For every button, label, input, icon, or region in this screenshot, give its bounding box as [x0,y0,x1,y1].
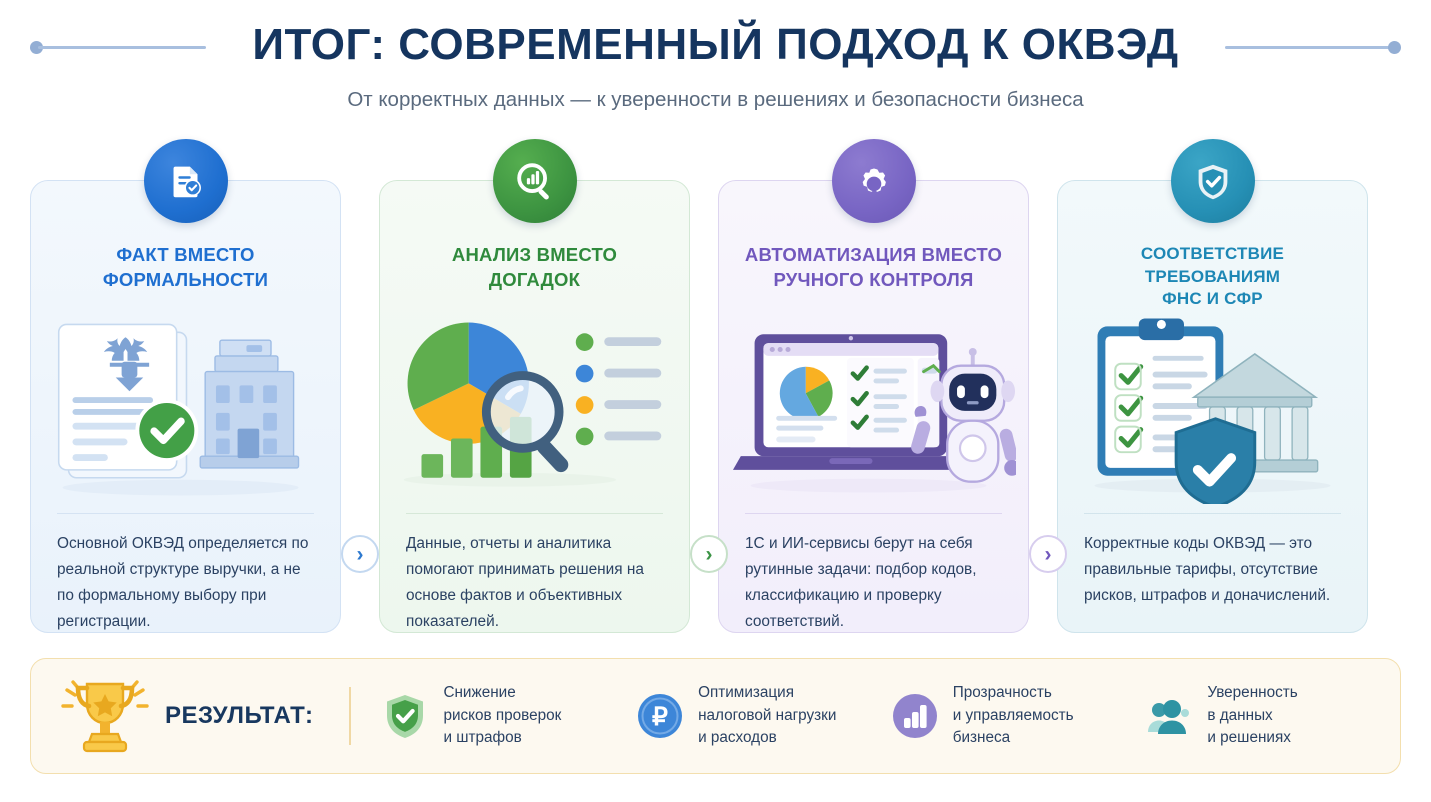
card-title-line2: ДОГАДОК [489,269,580,290]
card-title: СООТВЕТСТВИЕ ТРЕБОВАНИЯМ ФНС И СФР [1072,243,1353,311]
page-subtitle: От корректных данных — к уверенности в р… [0,88,1431,112]
result-item-line1: Прозрачность [953,682,1074,704]
result-item-tax-optimization: ₽ Оптимизация налоговой нагрузки и расхо… [636,682,891,749]
card-title: АВТОМАТИЗАЦИЯ ВМЕСТО РУЧНОГО КОНТРОЛЯ [733,243,1014,292]
result-item-text: Прозрачность и управляемость бизнеса [953,682,1074,749]
card-automation-over-manual-control[interactable]: АВТОМАТИЗАЦИЯ ВМЕСТО РУЧНОГО КОНТРОЛЯ [718,180,1029,633]
card-title-line2: РУЧНОГО КОНТРОЛЯ [774,269,974,290]
result-item-line1: Оптимизация [698,682,836,704]
header: ИТОГ: СОВРЕМЕННЫЙ ПОДХОД К ОКВЭД От корр… [0,0,1431,128]
document-with-coat-of-arms-and-building-illustration [43,309,328,504]
result-items: Снижение рисков проверок и штрафов ₽ Опт… [381,682,1400,749]
result-item-line3: бизнеса [953,727,1074,749]
ruble-coin-icon: ₽ [636,692,684,740]
cards-row: ФАКТ ВМЕСТО ФОРМАЛЬНОСТИ [0,180,1431,640]
result-item-text: Снижение рисков проверок и штрафов [443,682,561,749]
pie-chart-magnifier-bars-illustration [392,309,677,504]
card-divider [1084,513,1341,514]
result-item-line2: рисков проверок [443,705,561,727]
card-title-line1: СООТВЕТСТВИЕ ТРЕБОВАНИЯМ [1141,244,1284,286]
result-item-line1: Уверенность [1207,682,1297,704]
result-item-text: Уверенность в данных и решениях [1207,682,1297,749]
document-check-icon [144,139,228,223]
card-body-text: Корректные коды ОКВЭД — это правильные т… [1084,531,1347,609]
result-item-line2: и управляемость [953,705,1074,727]
card-body-text: Основной ОКВЭД определяется по реальной … [57,531,320,635]
card-divider [57,513,314,514]
card-title-line1: АНАЛИЗ ВМЕСТО [452,244,617,265]
trophy-icon [59,674,151,758]
people-icon [1145,692,1193,740]
chevron-right-icon: › [1045,544,1052,565]
bar-chart-icon [891,692,939,740]
card-title-line2: ФНС И СФР [1162,289,1263,308]
result-item-line1: Снижение [443,682,561,704]
card-compliance-fns-sfr[interactable]: СООТВЕТСТВИЕ ТРЕБОВАНИЯМ ФНС И СФР [1057,180,1368,633]
result-item-transparency: Прозрачность и управляемость бизнеса [891,682,1146,749]
card-body-text: 1С и ИИ-сервисы берут на себя рутинные з… [745,531,1008,635]
card-title: АНАЛИЗ ВМЕСТО ДОГАДОК [394,243,675,292]
clipboard-checklist-government-building-shield-illustration [1070,309,1355,504]
magnifier-chart-icon [493,139,577,223]
result-item-confidence: Уверенность в данных и решениях [1145,682,1400,749]
svg-text:₽: ₽ [652,703,668,731]
result-bar: РЕЗУЛЬТАТ: Снижение рисков проверок и шт… [30,658,1401,774]
result-item-risk-reduction: Снижение рисков проверок и штрафов [381,682,636,749]
connector-chevron-2: › [690,535,728,573]
page-title: ИТОГ: СОВРЕМЕННЫЙ ПОДХОД К ОКВЭД [0,20,1431,70]
result-item-line3: и решениях [1207,727,1297,749]
infographic-page: ИТОГ: СОВРЕМЕННЫЙ ПОДХОД К ОКВЭД От корр… [0,0,1431,802]
chevron-right-icon: › [357,544,364,565]
laptop-dashboard-robot-illustration [731,309,1016,504]
card-title: ФАКТ ВМЕСТО ФОРМАЛЬНОСТИ [45,243,326,292]
card-analysis-over-guesswork[interactable]: АНАЛИЗ ВМЕСТО ДОГАДОК [379,180,690,633]
card-divider [745,513,1002,514]
result-item-line3: и штрафов [443,727,561,749]
result-item-line2: налоговой нагрузки [698,705,836,727]
connector-chevron-1: › [341,535,379,573]
result-item-text: Оптимизация налоговой нагрузки и расходо… [698,682,836,749]
card-title-line1: АВТОМАТИЗАЦИЯ ВМЕСТО [745,244,1002,265]
card-divider [406,513,663,514]
connector-chevron-3: › [1029,535,1067,573]
card-body-text: Данные, отчеты и аналитика помогают прин… [406,531,669,635]
result-label: РЕЗУЛЬТАТ: [165,702,313,730]
result-item-line3: и расходов [698,727,836,749]
chevron-right-icon: › [706,544,713,565]
card-fact-over-formality[interactable]: ФАКТ ВМЕСТО ФОРМАЛЬНОСТИ [30,180,341,633]
shield-check-icon [1171,139,1255,223]
result-item-line2: в данных [1207,705,1297,727]
shield-check-icon [381,692,429,740]
gear-icon [832,139,916,223]
card-title-line1: ФАКТ ВМЕСТО [116,244,254,265]
result-divider [349,687,351,745]
card-title-line2: ФОРМАЛЬНОСТИ [103,269,268,290]
